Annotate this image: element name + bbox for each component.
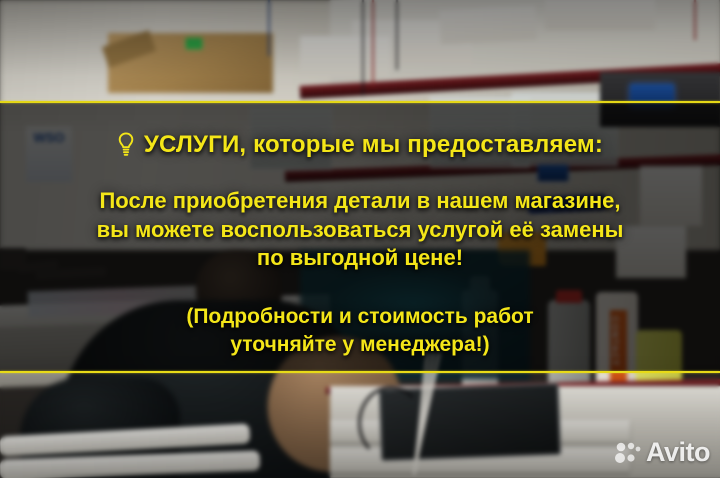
paragraph-line: После приобретения детали в нашем магази… (97, 187, 624, 216)
banner-note: (Подробности и стоимость работ уточняйте… (186, 303, 533, 358)
avito-service-banner: WSO CONTACT (0, 0, 720, 478)
avito-watermark: Avito (615, 439, 710, 466)
banner-heading: УСЛУГИ, которые мы предоставляем: (117, 131, 603, 159)
note-line: (Подробности и стоимость работ (186, 303, 533, 331)
avito-wordmark: Avito (646, 439, 710, 466)
lightbulb-icon (117, 132, 135, 158)
banner-paragraph: После приобретения детали в нашем магази… (97, 187, 624, 273)
paragraph-line: вы можете воспользоваться услугой её зам… (97, 216, 624, 245)
divider-rule-bottom (0, 371, 720, 373)
banner-heading-text: УСЛУГИ, которые мы предоставляем: (144, 131, 603, 159)
banner-content: УСЛУГИ, которые мы предоставляем: После … (0, 103, 720, 371)
note-line: уточняйте у менеджера!) (186, 331, 533, 359)
avito-dots-logo (615, 442, 641, 464)
paragraph-line: по выгодной цене! (97, 244, 624, 273)
